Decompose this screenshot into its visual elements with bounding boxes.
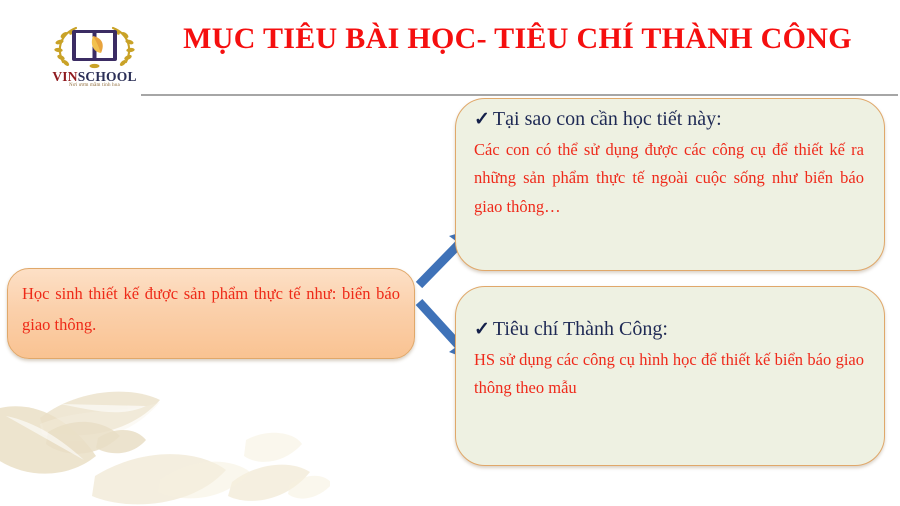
arrow-to-why-box <box>419 242 461 285</box>
vinschool-logo: VINSCHOOL Nơi ươm mầm tinh hoa <box>47 22 142 92</box>
slide-canvas: VINSCHOOL Nơi ươm mầm tinh hoa MỤC TIÊU … <box>0 0 900 506</box>
logo-tagline: Nơi ươm mầm tinh hoa <box>47 83 142 88</box>
logo-mark-icon <box>47 22 142 70</box>
check-icon: ✓ <box>474 110 490 129</box>
criteria-box-body: HS sử dụng các công cụ hình học để thiết… <box>474 346 864 403</box>
goal-box: Học sinh thiết kế được sản phẩm thực tế … <box>7 268 415 359</box>
why-box-heading: Tại sao con cần học tiết này: <box>493 107 722 132</box>
criteria-box-heading: Tiêu chí Thành Công: <box>493 317 668 342</box>
check-icon: ✓ <box>474 320 490 339</box>
leaf-decoration-icon <box>0 356 330 506</box>
logo-word-vin: VIN <box>52 69 77 84</box>
why-box: ✓ Tại sao con cần học tiết này: Các con … <box>455 98 885 271</box>
title-divider <box>141 94 898 96</box>
criteria-box-heading-row: ✓ Tiêu chí Thành Công: <box>474 317 864 342</box>
why-box-body: Các con có thể sử dụng được các công cụ … <box>474 136 864 221</box>
why-box-heading-row: ✓ Tại sao con cần học tiết này: <box>474 107 864 132</box>
page-title: MỤC TIÊU BÀI HỌC- TIÊU CHÍ THÀNH CÔNG <box>140 22 895 56</box>
goal-box-text: Học sinh thiết kế được sản phẩm thực tế … <box>8 269 414 348</box>
leaf-decoration-secondary-icon <box>150 422 330 506</box>
criteria-box: ✓ Tiêu chí Thành Công: HS sử dụng các cô… <box>455 286 885 466</box>
logo-word-school: SCHOOL <box>78 69 137 84</box>
